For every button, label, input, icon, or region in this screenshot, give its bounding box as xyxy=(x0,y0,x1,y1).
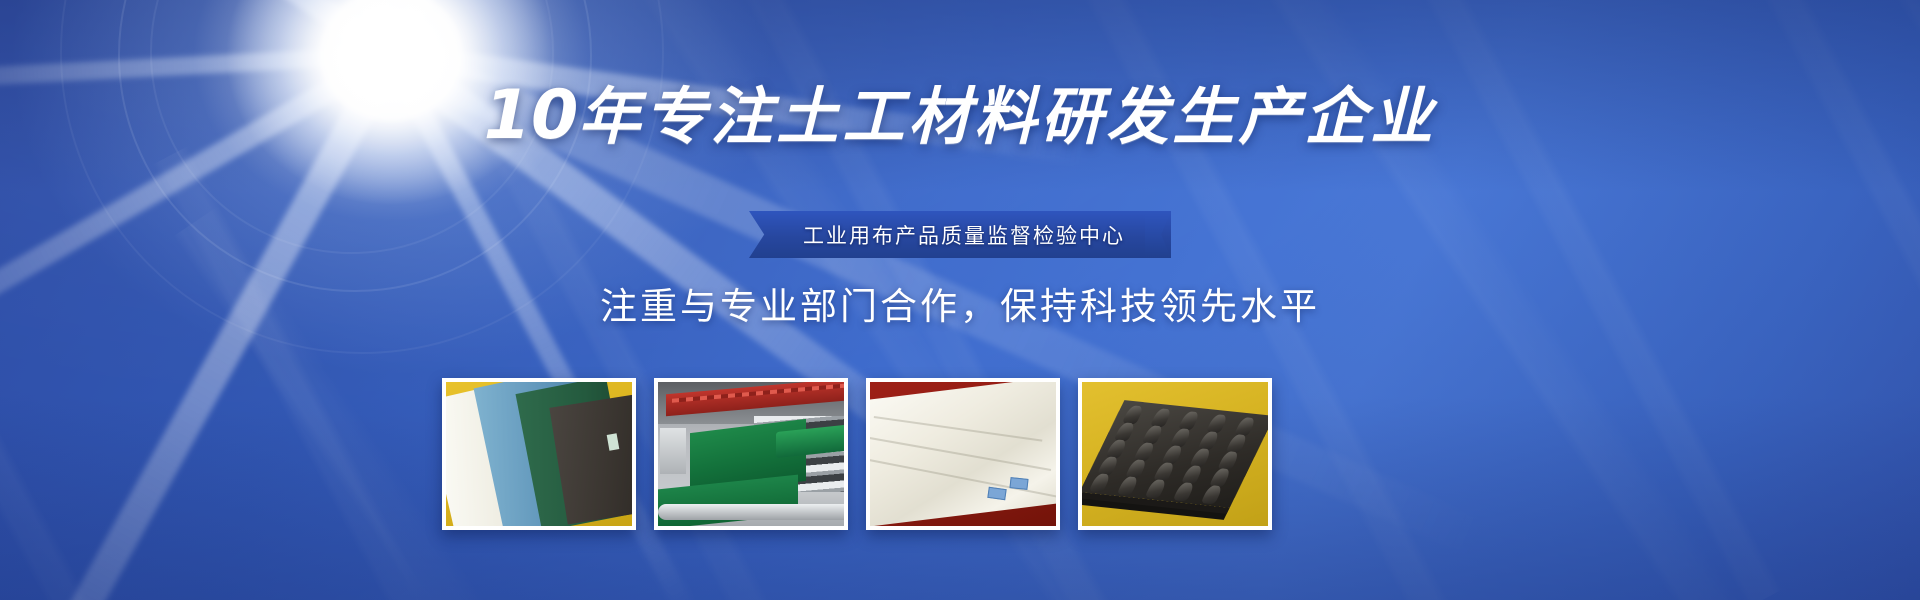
headline-text: 年专注土工材料研发生产企业 xyxy=(578,80,1436,153)
headline-number: 10 xyxy=(484,76,579,155)
ribbon-badge-label: 工业用布产品质量监督检验中心 xyxy=(795,220,1125,250)
product-photo-card-geomembrane-sheets[interactable] xyxy=(442,378,636,530)
product-photo-card-geotextile-fabric[interactable] xyxy=(866,378,1060,530)
photo-geomembrane-sheets xyxy=(446,382,632,526)
photo-production-line xyxy=(658,382,844,526)
product-photo-card-drainage-board[interactable] xyxy=(1078,378,1272,530)
product-photo-gallery xyxy=(442,378,1272,530)
drainage-board-studs xyxy=(1082,396,1268,504)
photo-drainage-board xyxy=(1082,382,1268,526)
headline: 10年专注土工材料研发生产企业 xyxy=(0,82,1920,150)
photo-geotextile-fabric xyxy=(870,382,1056,526)
ribbon-badge-wrapper: 工业用布产品质量监督检验中心 xyxy=(0,211,1920,258)
product-photo-card-production-line[interactable] xyxy=(654,378,848,530)
ribbon-right-notch xyxy=(1145,211,1171,258)
hero-banner: 10年专注土工材料研发生产企业 工业用布产品质量监督检验中心 注重与专业部门合作… xyxy=(0,0,1920,600)
tagline: 注重与专业部门合作，保持科技领先水平 xyxy=(0,287,1920,328)
ribbon-badge: 工业用布产品质量监督检验中心 xyxy=(749,211,1171,258)
